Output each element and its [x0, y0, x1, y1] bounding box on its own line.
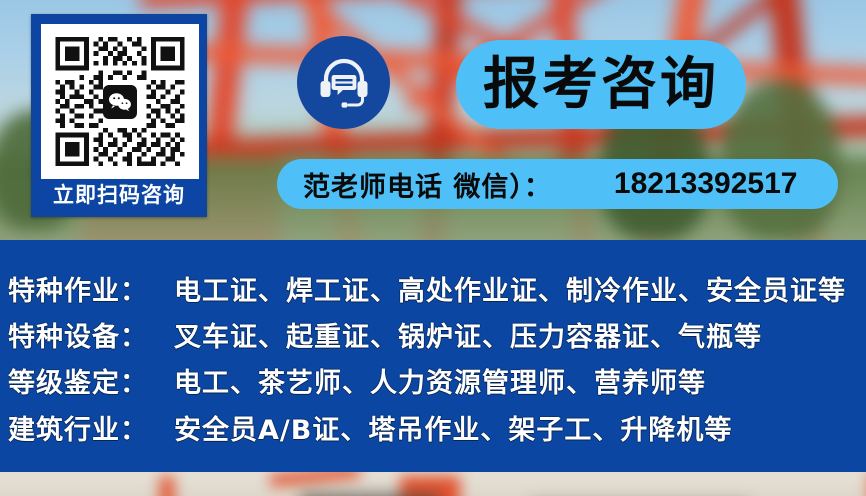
service-category-label: 等级鉴定：: [8, 361, 148, 400]
service-category-label: 特种设备：: [8, 315, 148, 354]
service-row: 特种设备： 叉车证、起重证、锅炉证、压力容器证、气瓶等: [8, 315, 762, 354]
service-category-label: 特种作业：: [8, 269, 148, 308]
wechat-icon: [103, 85, 137, 119]
bottom-photo-strip: [0, 472, 866, 496]
promo-banner: 立即扫码咨询 报考咨询 范老师电话 微信）： 18213392517 特: [0, 0, 866, 496]
service-row: 特种作业： 电工证、焊工证、高处作业证、制冷作业、安全员证等: [8, 269, 846, 308]
phone-number[interactable]: 18213392517: [614, 167, 798, 201]
service-row: 建筑行业： 安全员A/B证、塔吊作业、架子工、升降机等: [8, 408, 732, 447]
service-row: 等级鉴定： 电工、茶艺师、人力资源管理师、营养师等: [8, 361, 706, 400]
contact-phone-pill[interactable]: 范老师电话 微信）： 18213392517: [277, 159, 838, 209]
service-category-label: 建筑行业：: [8, 408, 148, 447]
service-items: 叉车证、起重证、锅炉证、压力容器证、气瓶等: [174, 315, 762, 354]
qr-caption: 立即扫码咨询: [34, 178, 204, 212]
qr-code-image[interactable]: [41, 24, 199, 179]
services-panel: 特种作业： 电工证、焊工证、高处作业证、制冷作业、安全员证等 特种设备： 叉车证…: [0, 240, 866, 472]
service-items: 电工证、焊工证、高处作业证、制冷作业、安全员证等: [174, 269, 846, 308]
contact-label: 范老师电话 微信）：: [303, 165, 552, 204]
service-items: 电工、茶艺师、人力资源管理师、营养师等: [174, 361, 706, 400]
headset-glyph: [315, 54, 373, 112]
title-pill[interactable]: 报考咨询: [456, 40, 746, 129]
headset-chat-icon[interactable]: [297, 36, 390, 129]
wechat-glyph: [108, 92, 132, 112]
title-text: 报考咨询: [483, 57, 719, 113]
service-items: 安全员A/B证、塔吊作业、架子工、升降机等: [174, 408, 732, 447]
qr-code-card[interactable]: 立即扫码咨询: [31, 14, 207, 217]
